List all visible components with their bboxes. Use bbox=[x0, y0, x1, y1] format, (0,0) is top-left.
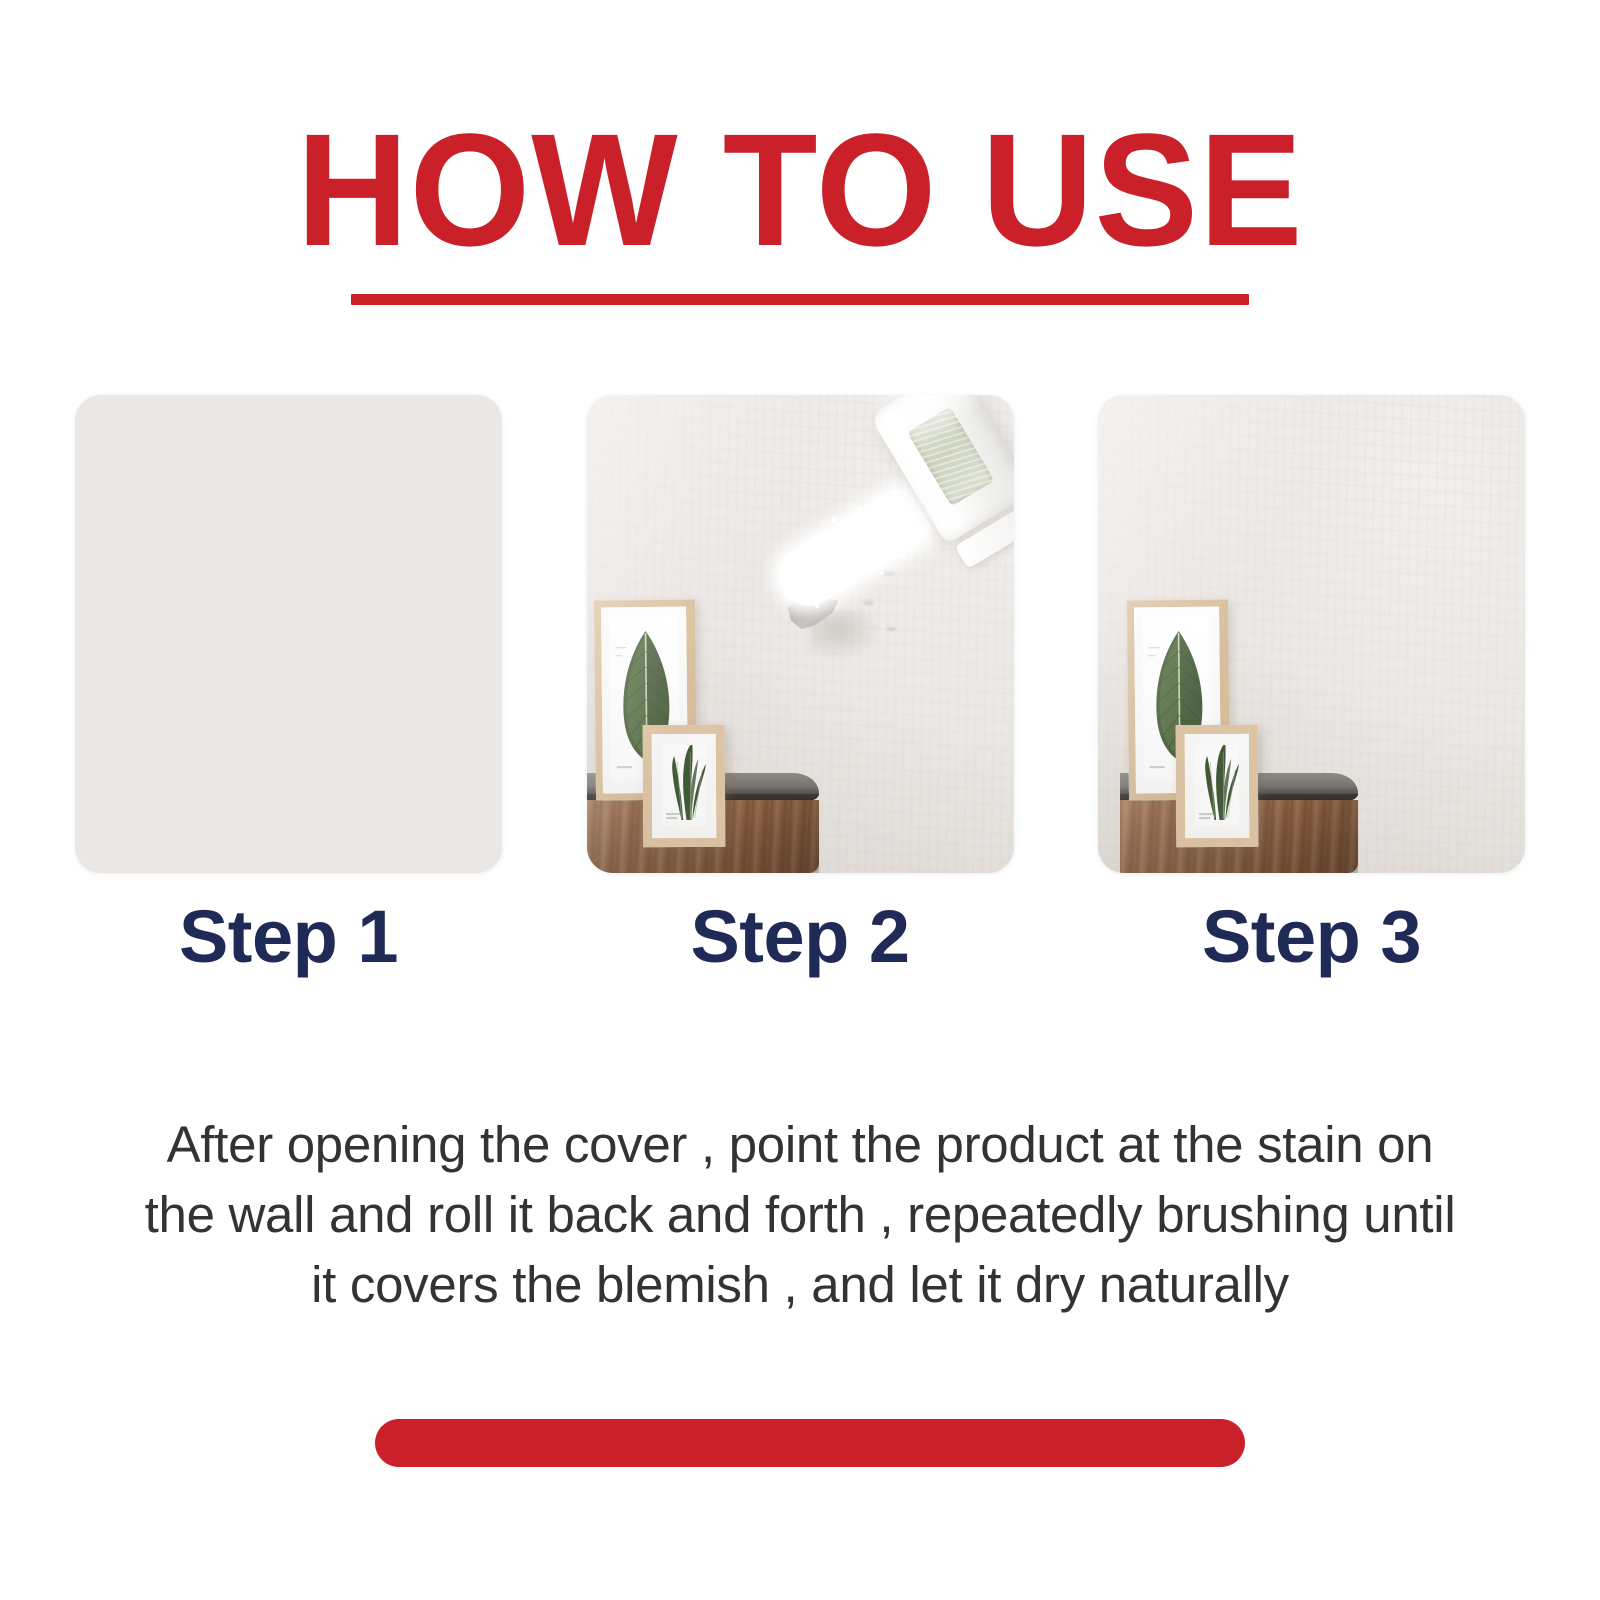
page-title: HOW TO USE bbox=[24, 110, 1576, 270]
step-1-placeholder-surface bbox=[75, 395, 502, 873]
page-header: HOW TO USE bbox=[0, 110, 1600, 305]
step-2-label: Step 2 bbox=[587, 898, 1014, 976]
step-3-label: Step 3 bbox=[1098, 898, 1525, 976]
instructions-line-3: it covers the blemish , and let it dry n… bbox=[100, 1250, 1500, 1320]
steps-image-row bbox=[75, 395, 1525, 873]
step-3-room-scene bbox=[1098, 395, 1525, 873]
instructions-line-1: After opening the cover , point the prod… bbox=[100, 1110, 1500, 1180]
step-labels-row: Step 1 Step 2 Step 3 bbox=[75, 898, 1525, 976]
step-1-label: Step 1 bbox=[75, 898, 502, 976]
step-2-image-card[interactable] bbox=[587, 395, 1014, 873]
step-2-room-scene bbox=[587, 395, 1014, 873]
bottom-accent-bar bbox=[375, 1419, 1245, 1467]
scene-lighting-overlay bbox=[1098, 395, 1525, 873]
step-1-image-card[interactable] bbox=[75, 395, 502, 873]
instructions-paragraph: After opening the cover , point the prod… bbox=[100, 1110, 1500, 1320]
scene-lighting-overlay bbox=[587, 395, 1014, 873]
instructions-line-2: the wall and roll it back and forth , re… bbox=[100, 1180, 1500, 1250]
step-3-image-card[interactable] bbox=[1098, 395, 1525, 873]
title-underline-rule bbox=[351, 294, 1249, 305]
